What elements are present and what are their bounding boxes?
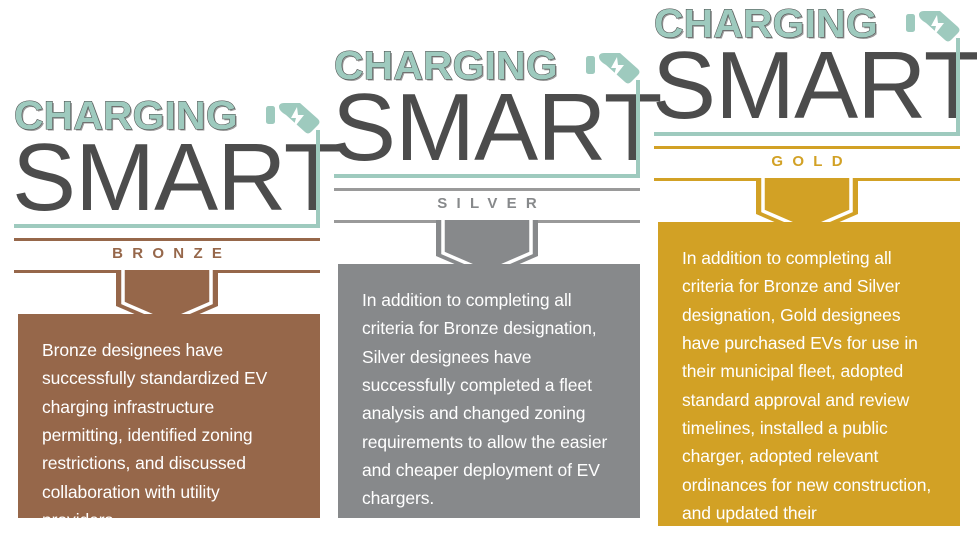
smart-wordmark-row: SMART xyxy=(654,44,960,144)
tier-gold: CHARGING SMART GOLD In addition to compl… xyxy=(654,4,960,144)
gold-description: In addition to completing all criteria f… xyxy=(658,222,960,526)
bronze-rule-top xyxy=(14,238,320,241)
logo-bracket-right xyxy=(316,130,320,228)
bronze-tier-label: BRONZE xyxy=(14,246,320,261)
silver-logo-lockup: CHARGING SMART xyxy=(334,46,640,186)
smart-wordmark: SMART xyxy=(652,38,977,134)
smart-wordmark-row: SMART xyxy=(14,136,320,236)
logo-bracket-right xyxy=(956,38,960,136)
smart-wordmark: SMART xyxy=(332,80,661,176)
gold-tier-label: GOLD xyxy=(654,154,960,169)
logo-bracket-right xyxy=(636,80,640,178)
logo-bracket-bottom xyxy=(334,174,640,178)
silver-rule-top xyxy=(334,188,640,191)
silver-description: In addition to completing all criteria f… xyxy=(338,264,640,518)
logo-bracket-bottom xyxy=(654,132,960,136)
gold-logo-lockup: CHARGING SMART xyxy=(654,4,960,144)
charging-smart-tiers-graphic: CHARGING SMART BRONZE Bronze designees h… xyxy=(0,0,977,526)
smart-wordmark: SMART xyxy=(12,130,341,226)
silver-tier-label: SILVER xyxy=(334,196,640,211)
gold-rule-top xyxy=(654,146,960,149)
smart-wordmark-row: SMART xyxy=(334,86,640,186)
bronze-description: Bronze designees have successfully stand… xyxy=(18,314,320,518)
bronze-logo-lockup: CHARGING SMART xyxy=(14,96,320,236)
tier-silver: CHARGING SMART SILVER In addition to com… xyxy=(334,46,640,186)
tier-bronze: CHARGING SMART BRONZE Bronze designees h… xyxy=(14,96,320,236)
logo-bracket-bottom xyxy=(14,224,320,228)
